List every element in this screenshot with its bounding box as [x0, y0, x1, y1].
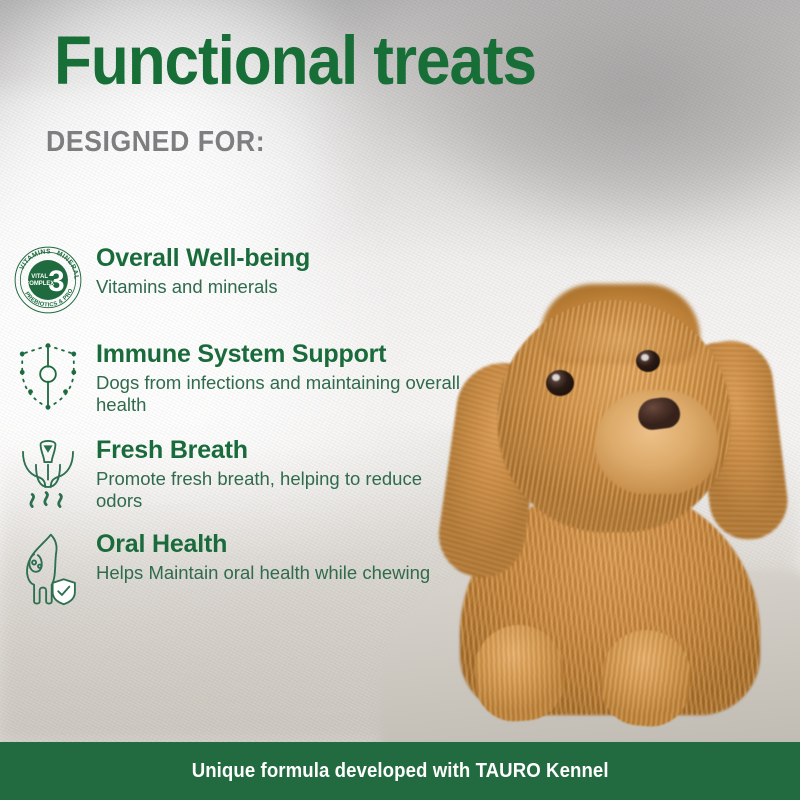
- feature-item-fresh-breath: Fresh Breath Promote fresh breath, helpi…: [0, 435, 520, 513]
- tooth-fresh-breath-icon: [0, 435, 96, 513]
- badge-vital-label: VITAL: [31, 274, 48, 280]
- feature-description: Dogs from infections and maintaining ove…: [96, 372, 466, 418]
- feature-list: VITAMINS MINERALS PREBIOTICS & PROBIOTIC…: [0, 243, 520, 621]
- feature-text-block: Immune System Support Dogs from infectio…: [96, 339, 466, 417]
- feature-item-immune-system-support: Immune System Support Dogs from infectio…: [0, 339, 520, 417]
- feature-text-block: Overall Well-being Vitamins and minerals: [96, 243, 310, 298]
- feature-text-block: Oral Health Helps Maintain oral health w…: [96, 529, 430, 584]
- vital-complex-badge-icon: VITAMINS MINERALS PREBIOTICS & PROBIOTIC…: [0, 243, 96, 315]
- feature-title: Oral Health: [96, 530, 430, 560]
- feature-description: Vitamins and minerals: [96, 276, 310, 299]
- feature-title: Fresh Breath: [96, 436, 466, 466]
- functional-treats-poster: Functional treats DESIGNED FOR: VITAMINS: [0, 0, 800, 800]
- feature-description: Promote fresh breath, helping to reduce …: [96, 468, 466, 514]
- feature-title: Immune System Support: [96, 340, 466, 370]
- page-title: Functional treats: [54, 26, 536, 95]
- puppy-eye-highlight-left: [552, 374, 560, 381]
- puppy-eye-right: [636, 350, 660, 372]
- footer-bar: Unique formula developed with TAURO Kenn…: [0, 742, 800, 800]
- page-subtitle: DESIGNED FOR:: [46, 126, 265, 159]
- puppy-eye-highlight-right: [641, 354, 649, 361]
- puppy-eye-left: [546, 370, 574, 396]
- tooth-shield-check-icon: [0, 529, 96, 607]
- feature-text-block: Fresh Breath Promote fresh breath, helpi…: [96, 435, 466, 513]
- footer-text: Unique formula developed with TAURO Kenn…: [192, 760, 609, 783]
- feature-item-overall-well-being: VITAMINS MINERALS PREBIOTICS & PROBIOTIC…: [0, 243, 520, 315]
- feature-description: Helps Maintain oral health while chewing: [96, 562, 430, 585]
- shield-icon: [0, 339, 96, 411]
- feature-item-oral-health: Oral Health Helps Maintain oral health w…: [0, 529, 520, 607]
- feature-title: Overall Well-being: [96, 244, 310, 274]
- badge-complex-label: COMPLEX: [25, 281, 54, 287]
